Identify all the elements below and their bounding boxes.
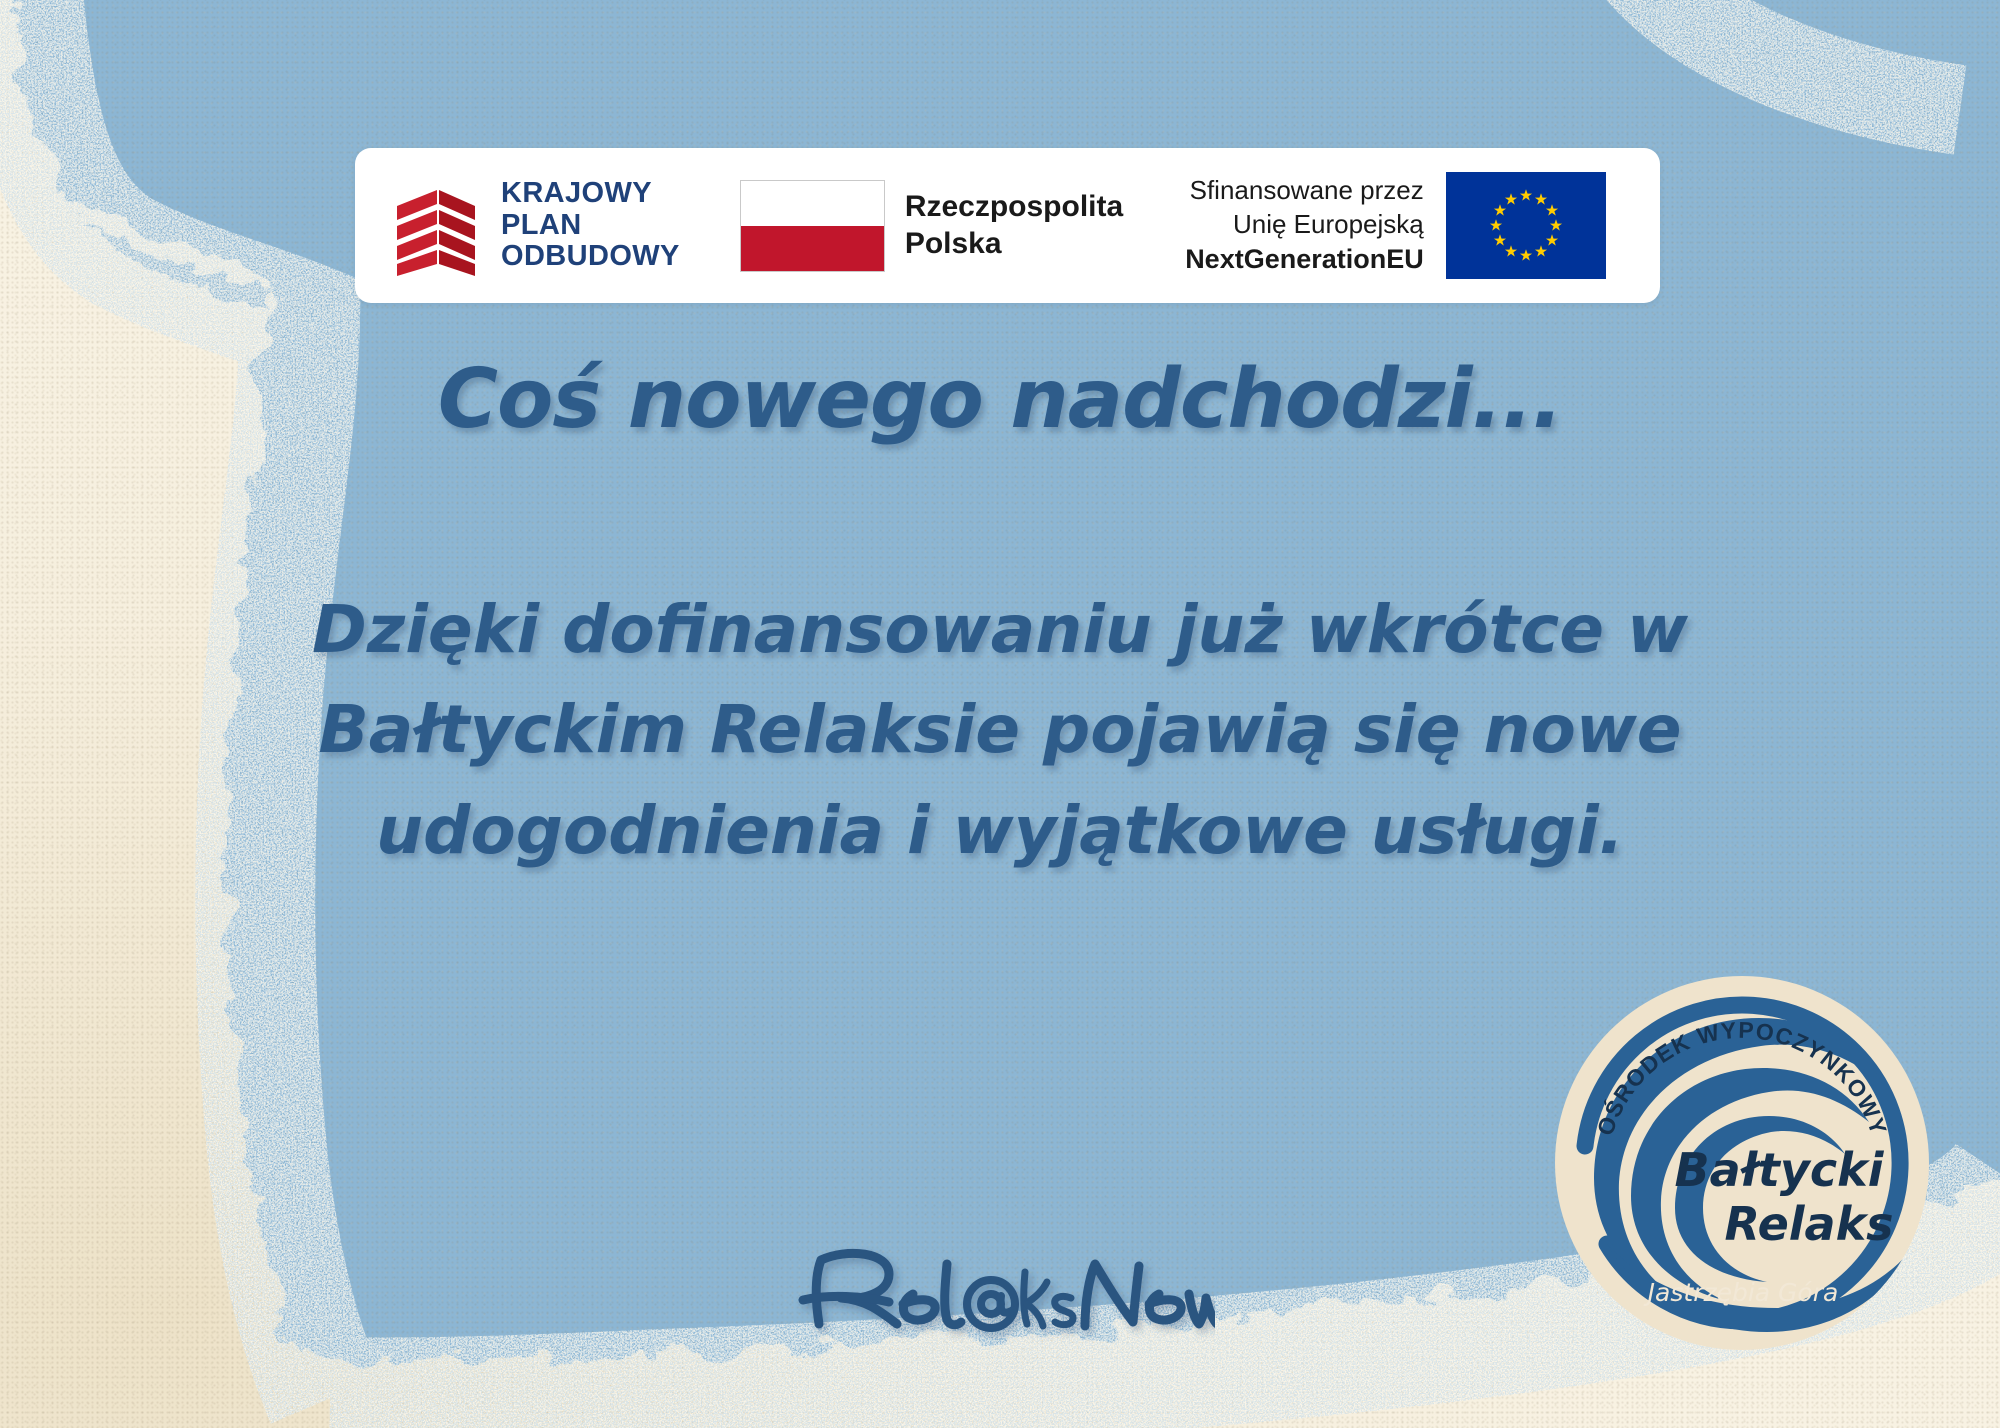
krajowy-plan-odbudowy-building-icon: [393, 176, 479, 276]
polish-flag-icon: [740, 180, 885, 272]
kpo-logo-block: KRAJOWY PLAN ODBUDOWY: [355, 148, 680, 303]
kpo-line-3: ODBUDOWY: [501, 241, 680, 273]
poster-canvas: KRAJOWY PLAN ODBUDOWY Rzeczpospolita Pol…: [0, 0, 2000, 1428]
republic-wordmark: Rzeczpospolita Polska: [905, 189, 1123, 262]
eu-line-3: NextGenerationEU: [1185, 242, 1424, 277]
eu-funding-text: Sfinansowane przez Unię Europejską NextG…: [1185, 174, 1424, 277]
republic-of-poland-block: Rzeczpospolita Polska: [680, 148, 1123, 303]
body-copy: Dzięki dofinansowaniu już wkrótce w Bałt…: [270, 580, 1730, 881]
baltycki-relaks-logo: OŚRODEK WYPOCZYNKOWY Bałtycki Relaks Jas…: [1547, 968, 1937, 1358]
republic-line-2: Polska: [905, 226, 1123, 263]
eu-line-2: Unię Europejską: [1185, 208, 1424, 242]
logo-location: Jastrzębia Góra: [1643, 1278, 1839, 1307]
european-union-flag-icon: [1446, 172, 1606, 279]
kpo-line-2: PLAN: [501, 210, 680, 242]
republic-line-1: Rzeczpospolita: [905, 189, 1123, 226]
body-line-1: Dzięki dofinansowaniu już wkrótce w: [270, 580, 1730, 680]
kpo-wordmark: KRAJOWY PLAN ODBUDOWY: [501, 178, 680, 274]
body-line-2: Bałtyckim Relaksie pojawią się nowe: [270, 680, 1730, 780]
eu-line-1: Sfinansowane przez: [1185, 174, 1424, 208]
logo-script-line-2: Relaks: [1724, 1197, 1893, 1251]
logo-script-line-1: Bałtycki: [1675, 1143, 1885, 1197]
eu-funding-block: Sfinansowane przez Unię Europejską NextG…: [1123, 148, 1606, 303]
funding-banner: KRAJOWY PLAN ODBUDOWY Rzeczpospolita Pol…: [355, 148, 1660, 303]
body-line-3: udogodnienia i wyjątkowe usługi.: [270, 781, 1730, 881]
kpo-line-1: KRAJOWY: [501, 178, 680, 210]
page-title: Coś nowego nadchodzi...: [0, 352, 2000, 447]
